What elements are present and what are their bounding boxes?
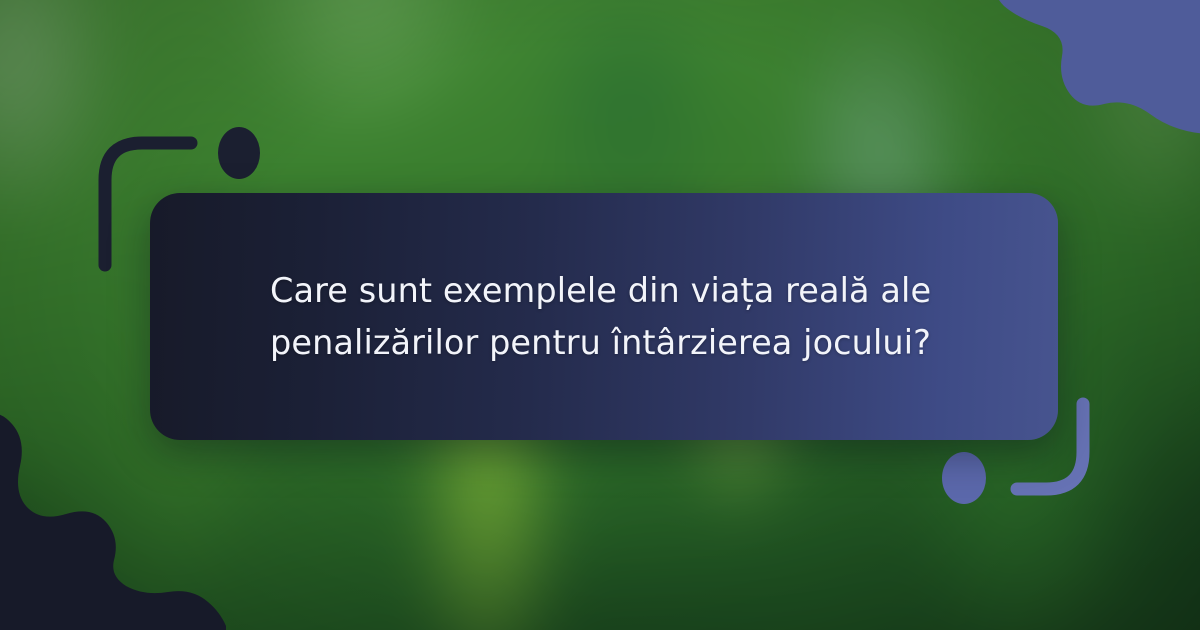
dot-icon [217,125,261,181]
og-question-card-canvas: Care sunt exemplele din viața reală ale … [0,0,1200,630]
question-text: Care sunt exemplele din viața reală ale … [270,265,994,369]
dot-icon [941,451,987,505]
blob-top-right [978,0,1200,134]
question-card-body: Care sunt exemplele din viața reală ale … [150,265,1058,369]
blob-bottom-left [0,410,226,630]
question-card: Care sunt exemplele din viața reală ale … [150,193,1058,440]
